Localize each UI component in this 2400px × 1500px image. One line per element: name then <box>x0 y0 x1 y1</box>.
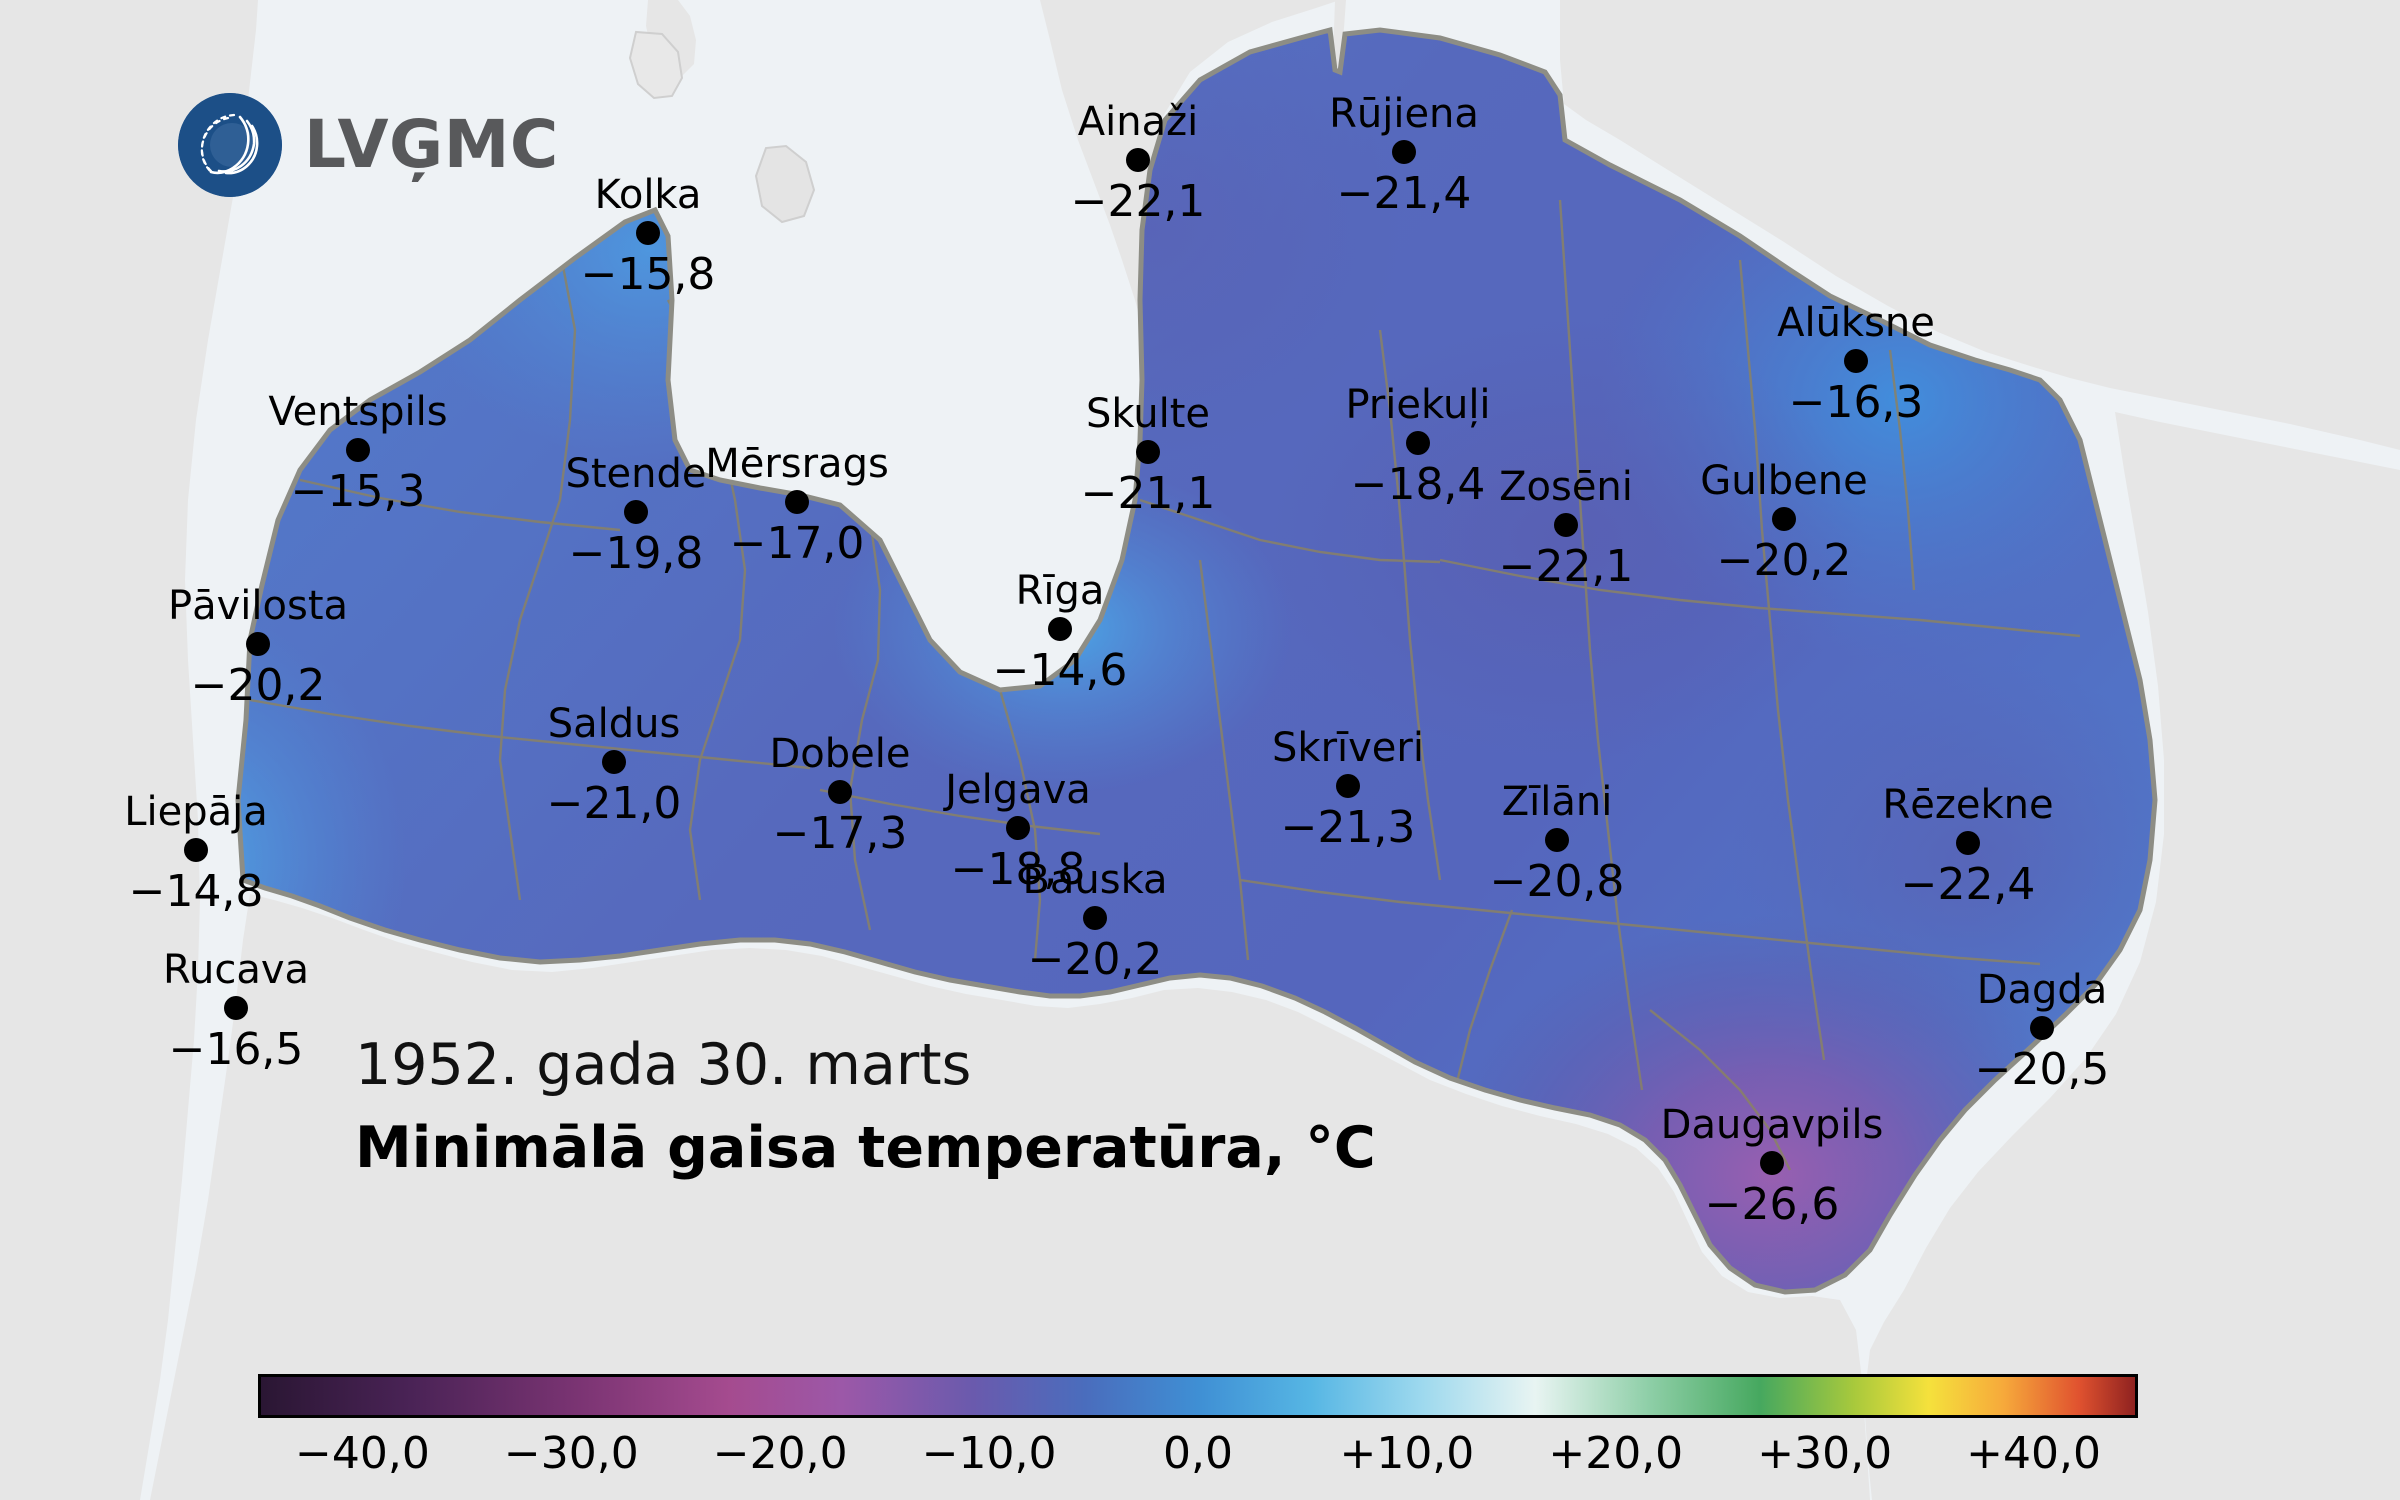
station-value: −19,8 <box>569 532 704 576</box>
station-name: Zosēni <box>1499 467 1633 507</box>
colorbar-gradient <box>258 1374 2138 1418</box>
station-value: −20,2 <box>1028 938 1163 982</box>
station-dot-icon <box>1545 828 1569 852</box>
station-name: Daugavpils <box>1661 1105 1884 1145</box>
colorbar-tick-label: 0,0 <box>1163 1428 1233 1479</box>
title-block: 1952. gada 30. marts Minimālā gaisa temp… <box>355 1030 1376 1185</box>
station-value: −20,2 <box>1717 539 1852 583</box>
station-dot-icon <box>624 500 648 524</box>
station-value: −14,6 <box>993 649 1128 693</box>
map-date: 1952. gada 30. marts <box>355 1030 1376 1101</box>
station-name: Saldus <box>548 704 681 744</box>
station-name: Jelgava <box>945 770 1091 810</box>
station-dot-icon <box>1136 440 1160 464</box>
station-dot-icon <box>1048 617 1072 641</box>
colorbar-tick-label: +20,0 <box>1548 1428 1683 1479</box>
station-name: Ventspils <box>268 392 447 432</box>
colorbar-legend: −40,0−30,0−20,0−10,00,0+10,0+20,0+30,0+4… <box>258 1374 2138 1488</box>
station-dot-icon <box>636 221 660 245</box>
station-value: −21,1 <box>1081 472 1216 516</box>
station-name: Stende <box>565 454 706 494</box>
station-name: Rēzekne <box>1882 785 2053 825</box>
lvgmc-wordmark: LVĢMC <box>304 112 559 178</box>
station-name: Gulbene <box>1700 461 1867 501</box>
station-dot-icon <box>1083 906 1107 930</box>
colorbar-tick-label: −20,0 <box>713 1428 848 1479</box>
station-dot-icon <box>785 490 809 514</box>
colorbar-tick-label: −10,0 <box>922 1428 1057 1479</box>
station-name: Priekuļi <box>1345 385 1490 425</box>
station-name: Ainaži <box>1078 102 1198 142</box>
station-value: −22,4 <box>1901 863 2036 907</box>
station-dot-icon <box>1006 816 1030 840</box>
station-dot-icon <box>1760 1151 1784 1175</box>
station-dot-icon <box>184 838 208 862</box>
station-value: −21,0 <box>547 782 682 826</box>
station-name: Dobele <box>770 734 911 774</box>
station-value: −21,3 <box>1281 806 1416 850</box>
station-dot-icon <box>1844 349 1868 373</box>
station-value: −20,2 <box>191 664 326 708</box>
colorbar-tick-label: +40,0 <box>1966 1428 2101 1479</box>
station-name: Rīga <box>1016 571 1105 611</box>
station-value: −20,5 <box>1975 1048 2110 1092</box>
station-dot-icon <box>1956 831 1980 855</box>
station-dot-icon <box>1554 513 1578 537</box>
lvgmc-logo: LVĢMC <box>178 93 559 197</box>
station-value: −16,3 <box>1789 381 1924 425</box>
station-name: Dagda <box>1977 970 2108 1010</box>
map-figure: LVĢMC Kolka−15,8Ventspils−15,3Mērsrags−1… <box>0 0 2400 1500</box>
station-name: Kolka <box>595 175 702 215</box>
station-dot-icon <box>1392 140 1416 164</box>
station-name: Zīlāni <box>1502 782 1613 822</box>
station-value: −17,0 <box>730 522 865 566</box>
station-dot-icon <box>1406 431 1430 455</box>
station-dot-icon <box>224 996 248 1020</box>
station-name: Bauska <box>1022 860 1167 900</box>
station-name: Pāvilosta <box>168 586 348 626</box>
station-dot-icon <box>246 632 270 656</box>
colorbar-tick-label: +30,0 <box>1757 1428 1892 1479</box>
station-value: −15,3 <box>291 470 426 514</box>
station-name: Alūksne <box>1777 303 1935 343</box>
station-value: −16,5 <box>169 1028 304 1072</box>
colorbar-tick-label: +10,0 <box>1339 1428 1474 1479</box>
station-value: −15,8 <box>581 253 716 297</box>
station-dot-icon <box>602 750 626 774</box>
lvgmc-wave-circle-icon <box>178 93 282 197</box>
station-value: −20,8 <box>1490 860 1625 904</box>
station-value: −26,6 <box>1705 1183 1840 1227</box>
station-dot-icon <box>346 438 370 462</box>
colorbar-tick-label: −40,0 <box>295 1428 430 1479</box>
station-name: Rūjiena <box>1329 94 1479 134</box>
station-name: Skulte <box>1086 394 1210 434</box>
station-name: Rucava <box>163 950 309 990</box>
station-value: −22,1 <box>1071 180 1206 224</box>
station-value: −17,3 <box>773 812 908 856</box>
station-value: −14,8 <box>129 870 264 914</box>
station-dot-icon <box>1336 774 1360 798</box>
colorbar-ticks: −40,0−30,0−20,0−10,00,0+10,0+20,0+30,0+4… <box>258 1428 2138 1488</box>
station-value: −21,4 <box>1337 172 1472 216</box>
station-name: Mērsrags <box>705 444 889 484</box>
station-dot-icon <box>828 780 852 804</box>
station-dot-icon <box>2030 1016 2054 1040</box>
station-value: −22,1 <box>1499 545 1634 589</box>
station-name: Skrīveri <box>1272 728 1424 768</box>
station-dot-icon <box>1126 148 1150 172</box>
map-title: Minimālā gaisa temperatūra, °C <box>355 1113 1376 1184</box>
station-name: Liepāja <box>124 792 268 832</box>
colorbar-tick-label: −30,0 <box>504 1428 639 1479</box>
station-dot-icon <box>1772 507 1796 531</box>
station-value: −18,4 <box>1351 463 1486 507</box>
